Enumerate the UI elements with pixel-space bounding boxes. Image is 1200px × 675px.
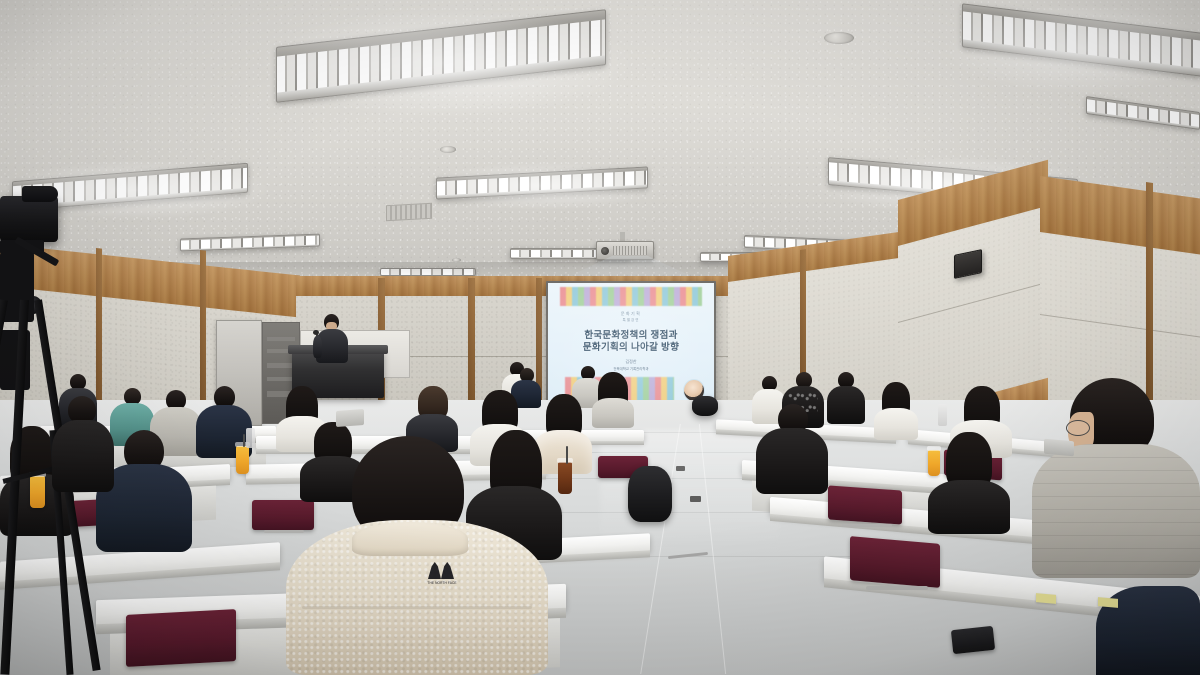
chair [828, 485, 902, 524]
camera-viewfinder-hood [22, 186, 58, 202]
projector-lens [601, 247, 609, 255]
presenter-at-podium [312, 314, 352, 364]
slide-illustration-band-top [560, 287, 703, 306]
iced-coffee-cup [558, 462, 572, 494]
body [928, 480, 1010, 534]
orange-juice-cup [236, 446, 249, 474]
chair-frame [842, 524, 892, 527]
fleece-seam [302, 606, 532, 609]
body [52, 420, 114, 492]
slide-title-line2: 문화기획의 나아갈 방향 [548, 339, 714, 353]
slide-presenter: 김정찬 [548, 359, 714, 365]
chair [850, 536, 940, 588]
floor-outlet [690, 496, 701, 502]
rack-slot [267, 337, 295, 341]
cup-lid [927, 446, 941, 451]
seated-audience-member [874, 382, 918, 440]
laptop [336, 409, 364, 427]
straw [566, 446, 568, 464]
cup-lid [557, 458, 573, 463]
body [592, 398, 634, 428]
smartphone-on-desk [951, 626, 995, 654]
video-camera [0, 196, 58, 242]
straw [243, 434, 245, 447]
seated-audience-member [756, 404, 828, 494]
projector-vents [613, 246, 647, 255]
chair [126, 609, 236, 667]
seated-audience-member [826, 372, 866, 424]
fleece-collar [352, 522, 468, 556]
seated-audience-member [592, 372, 634, 428]
smoke-detector-icon [440, 146, 456, 153]
body [756, 428, 828, 494]
lecture-hall-photo: 문화기획 특별강연 한국문화정책의 쟁점과 문화기획의 나아갈 방향 김정찬 전… [0, 0, 1200, 675]
orange-juice-cup [30, 476, 45, 508]
smoke-detector-icon [824, 32, 854, 44]
ceiling-air-vent [386, 203, 432, 221]
presenter-arm [313, 336, 322, 358]
north-face-logo-label: THE NORTH FACE [426, 581, 458, 585]
floor-outlet [676, 466, 685, 471]
slide-eyebrow: 문화기획 [548, 311, 714, 317]
sticky-note [1036, 593, 1056, 604]
body [874, 408, 918, 440]
seated-audience-member-foreground [1032, 378, 1200, 578]
puffer-jacket [1032, 444, 1200, 578]
eyeglasses-icon [1066, 420, 1090, 436]
orange-juice-cup [928, 450, 940, 476]
camera-operator [52, 396, 114, 492]
backpack-on-floor [628, 466, 672, 522]
seated-audience-member-foreground: THE NORTH FACE [286, 436, 548, 675]
water-bottle [938, 404, 947, 426]
sticky-note [1098, 597, 1118, 608]
water-bottle [246, 428, 255, 448]
rack-slot [267, 363, 295, 368]
rack-slot [267, 377, 295, 381]
backpack-on-floor [692, 396, 718, 416]
slide-kicker: 특별강연 [548, 318, 714, 323]
chair-frame [866, 586, 928, 590]
laptop [1044, 439, 1074, 457]
projector-icon [596, 241, 654, 260]
body [827, 386, 865, 424]
